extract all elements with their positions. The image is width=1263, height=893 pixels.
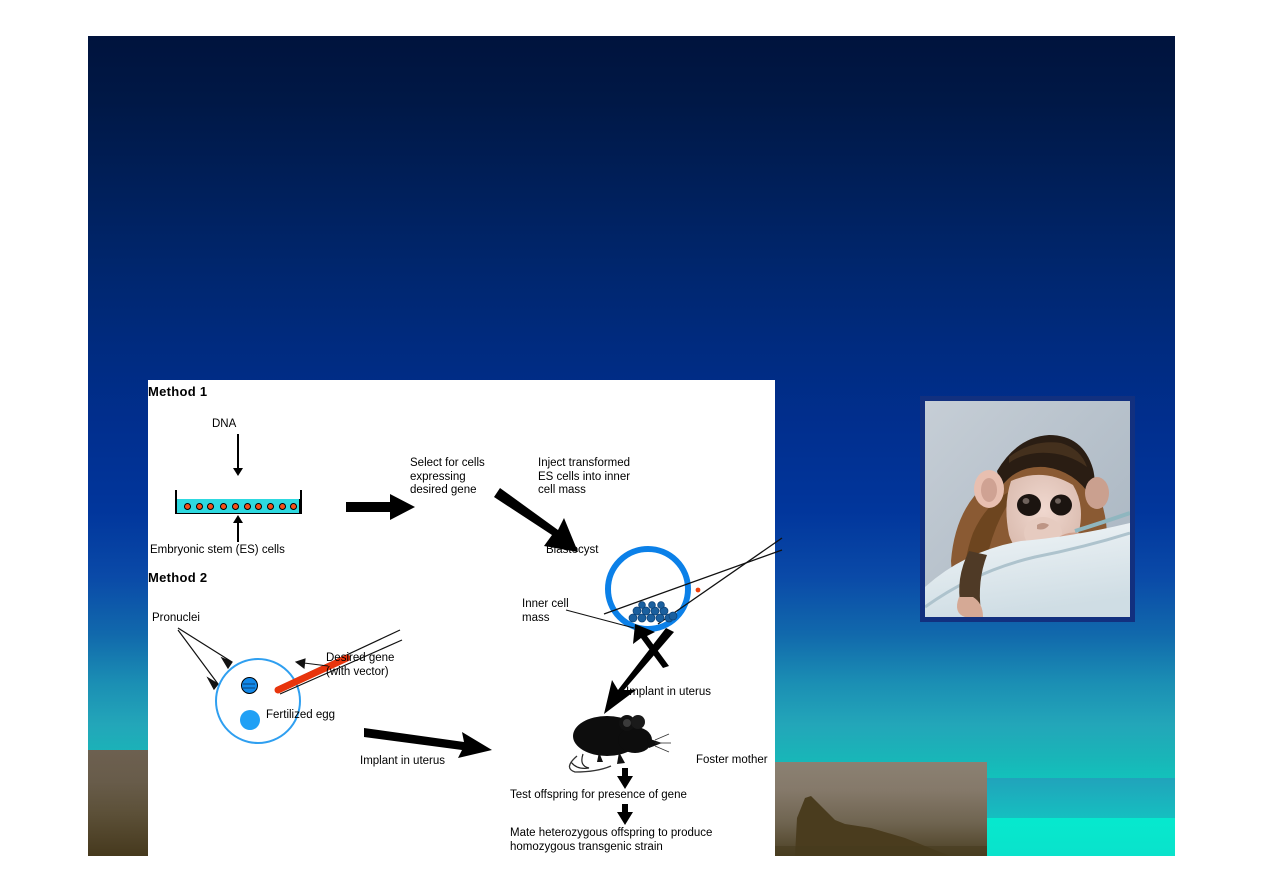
petri-dish-wall-left bbox=[175, 490, 177, 514]
method-1-heading: Method 1 bbox=[148, 384, 207, 399]
es-cell bbox=[244, 503, 251, 510]
es-arrow-shaft bbox=[237, 520, 239, 542]
es-cells-label: Embryonic stem (ES) cells bbox=[150, 544, 285, 558]
es-cell bbox=[220, 503, 227, 510]
foster-mother-label: Foster mother bbox=[696, 754, 768, 768]
transgenic-methods-diagram: Method 1 DNA Embryonic stem (ES) cells bbox=[148, 380, 775, 856]
desired-gene-label: Desired gene (with vector) bbox=[326, 652, 394, 679]
es-cell bbox=[232, 503, 239, 510]
egg-cytoplasm-dot bbox=[240, 710, 260, 730]
implant-arrow-diagonal bbox=[598, 632, 678, 718]
transgenic-monkey-photo bbox=[920, 396, 1135, 622]
es-cell bbox=[196, 503, 203, 510]
es-cell bbox=[279, 503, 286, 510]
arrow-to-test-offspring bbox=[616, 768, 634, 790]
monkey-photo-image bbox=[925, 401, 1130, 617]
water-band-lower-right bbox=[963, 818, 1175, 856]
es-cell bbox=[267, 503, 274, 510]
inner-cell-mass-label: Inner cell mass bbox=[522, 598, 569, 625]
arrow-to-mate-heterozygous bbox=[616, 804, 634, 826]
dna-arrow-shaft bbox=[237, 434, 239, 470]
implant-uterus-label-1: Implant in uterus bbox=[626, 686, 711, 700]
presentation-slide: Method 1 DNA Embryonic stem (ES) cells bbox=[88, 36, 1175, 856]
silhouette-shape bbox=[775, 762, 987, 856]
arrow-to-selection bbox=[346, 493, 416, 521]
test-offspring-label: Test offspring for presence of gene bbox=[510, 789, 687, 803]
es-cell bbox=[184, 503, 191, 510]
select-cells-label: Select for cells expressing desired gene bbox=[410, 457, 485, 498]
mouse-icon bbox=[563, 710, 675, 776]
pronuclei-label: Pronuclei bbox=[152, 612, 200, 626]
dna-label: DNA bbox=[212, 418, 236, 432]
dna-arrow-head bbox=[233, 468, 243, 476]
method-2-heading: Method 2 bbox=[148, 570, 207, 585]
es-arrow-head bbox=[233, 515, 243, 523]
inner-cell-mass-leader-line bbox=[566, 608, 636, 630]
es-cell bbox=[207, 503, 214, 510]
es-cell bbox=[255, 503, 262, 510]
desired-gene-leader-arrow bbox=[286, 658, 330, 672]
implant-uterus-label-2: Implant in uterus bbox=[360, 755, 445, 769]
mate-heterozygous-label: Mate heterozygous offspring to produce h… bbox=[510, 827, 712, 854]
screenshot-canvas: Method 1 DNA Embryonic stem (ES) cells bbox=[0, 0, 1263, 893]
fertilized-egg-label: Fertilized egg bbox=[266, 709, 335, 723]
petri-dish-wall-right bbox=[300, 490, 302, 514]
blastocyst-label: Blastocyst bbox=[546, 544, 598, 558]
es-cell bbox=[290, 503, 297, 510]
